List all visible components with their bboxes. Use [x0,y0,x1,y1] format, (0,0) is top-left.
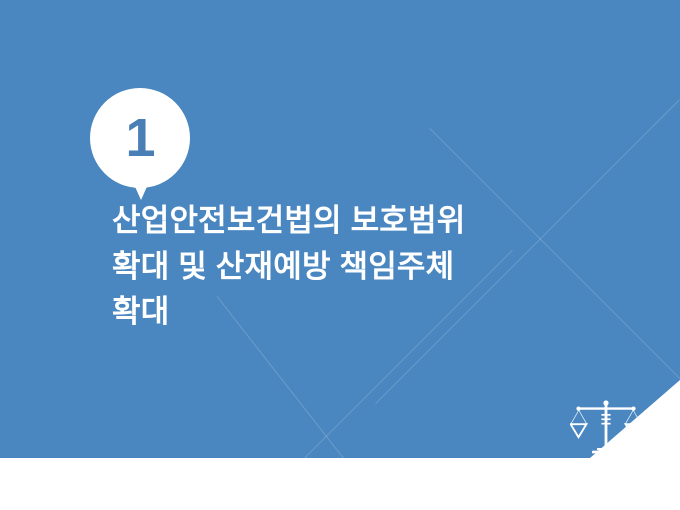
section-number-label: 1 [125,111,154,165]
section-number-bubble: 1 [90,88,194,200]
slide-title: 산업안전보건법의 보호범위 확대 및 산재예방 책임주체 확대 [112,198,632,335]
footer-bar: 3개정 산업안전보건법 주요내용(건설업) 산업재해예방 안전보건공단 [0,458,680,510]
scales-of-justice-icon [570,398,642,456]
bubble-circle-shape: 1 [90,88,190,188]
slide-canvas: 1 산업안전보건법의 보호범위 확대 및 산재예방 책임주체 확대 [0,0,680,510]
